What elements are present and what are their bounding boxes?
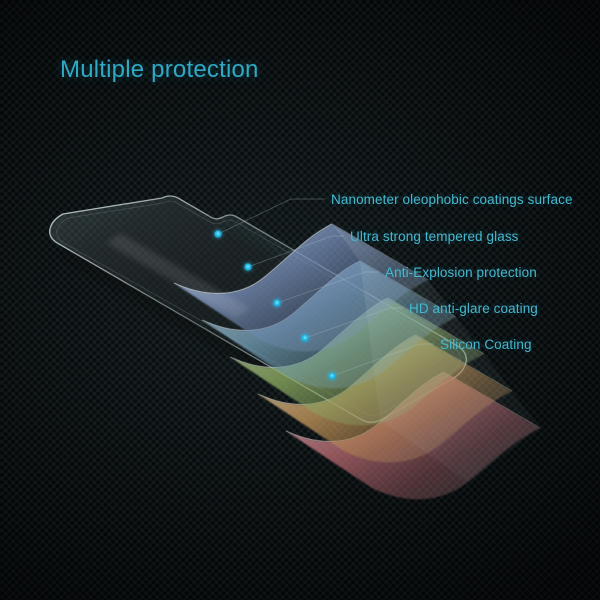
callout-label-ultra-strong-tempered-glass: Ultra strong tempered glass <box>350 229 519 244</box>
callout-label-nanometer-oleophobic: Nanometer oleophobic coatings surface <box>331 192 573 207</box>
marker-dot-nanometer-oleophobic <box>214 230 221 237</box>
callout-label-silicon-coating: Silicon Coating <box>440 337 532 352</box>
layered-protector-illustration <box>0 0 600 600</box>
marker-dot-silicon-coating <box>328 372 335 379</box>
callout-label-hd-anti-glare-coating: HD anti-glare coating <box>409 301 538 316</box>
marker-dot-hd-anti-glare-coating <box>301 334 308 341</box>
product-infographic: Multiple protection <box>0 0 600 600</box>
marker-dot-anti-explosion-protection <box>273 299 280 306</box>
callout-label-anti-explosion-protection: Anti-Explosion protection <box>385 265 537 280</box>
marker-dot-ultra-strong-tempered-glass <box>244 263 251 270</box>
